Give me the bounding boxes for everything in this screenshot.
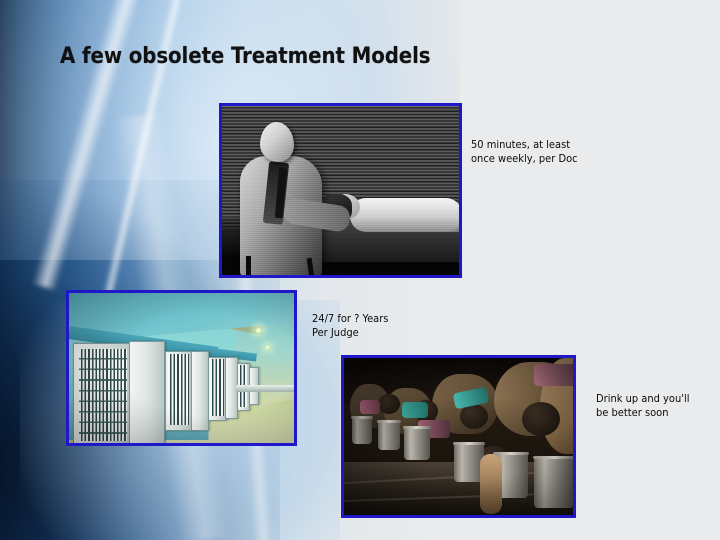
callout-prison-sentence: 24/7 for ? Years Per Judge [312, 312, 388, 340]
slide-canvas: A few obsolete Treatment Models [0, 0, 720, 540]
film-grain [222, 106, 459, 275]
buckets-artwork [344, 358, 573, 515]
page-title: A few obsolete Treatment Models [60, 44, 431, 69]
image-prison-cell-block [66, 290, 297, 446]
buckets-vignette [344, 358, 573, 515]
prison-artwork [69, 293, 294, 443]
image-psychoanalysis-session [219, 103, 462, 278]
psychoanalysis-artwork [222, 106, 459, 275]
callout-water-cure: Drink up and you'll be better soon [596, 392, 689, 420]
image-water-bucket-treatment [341, 355, 576, 518]
callout-therapy-frequency: 50 minutes, at least once weekly, per Do… [471, 138, 578, 166]
prison-vignette [69, 293, 294, 443]
